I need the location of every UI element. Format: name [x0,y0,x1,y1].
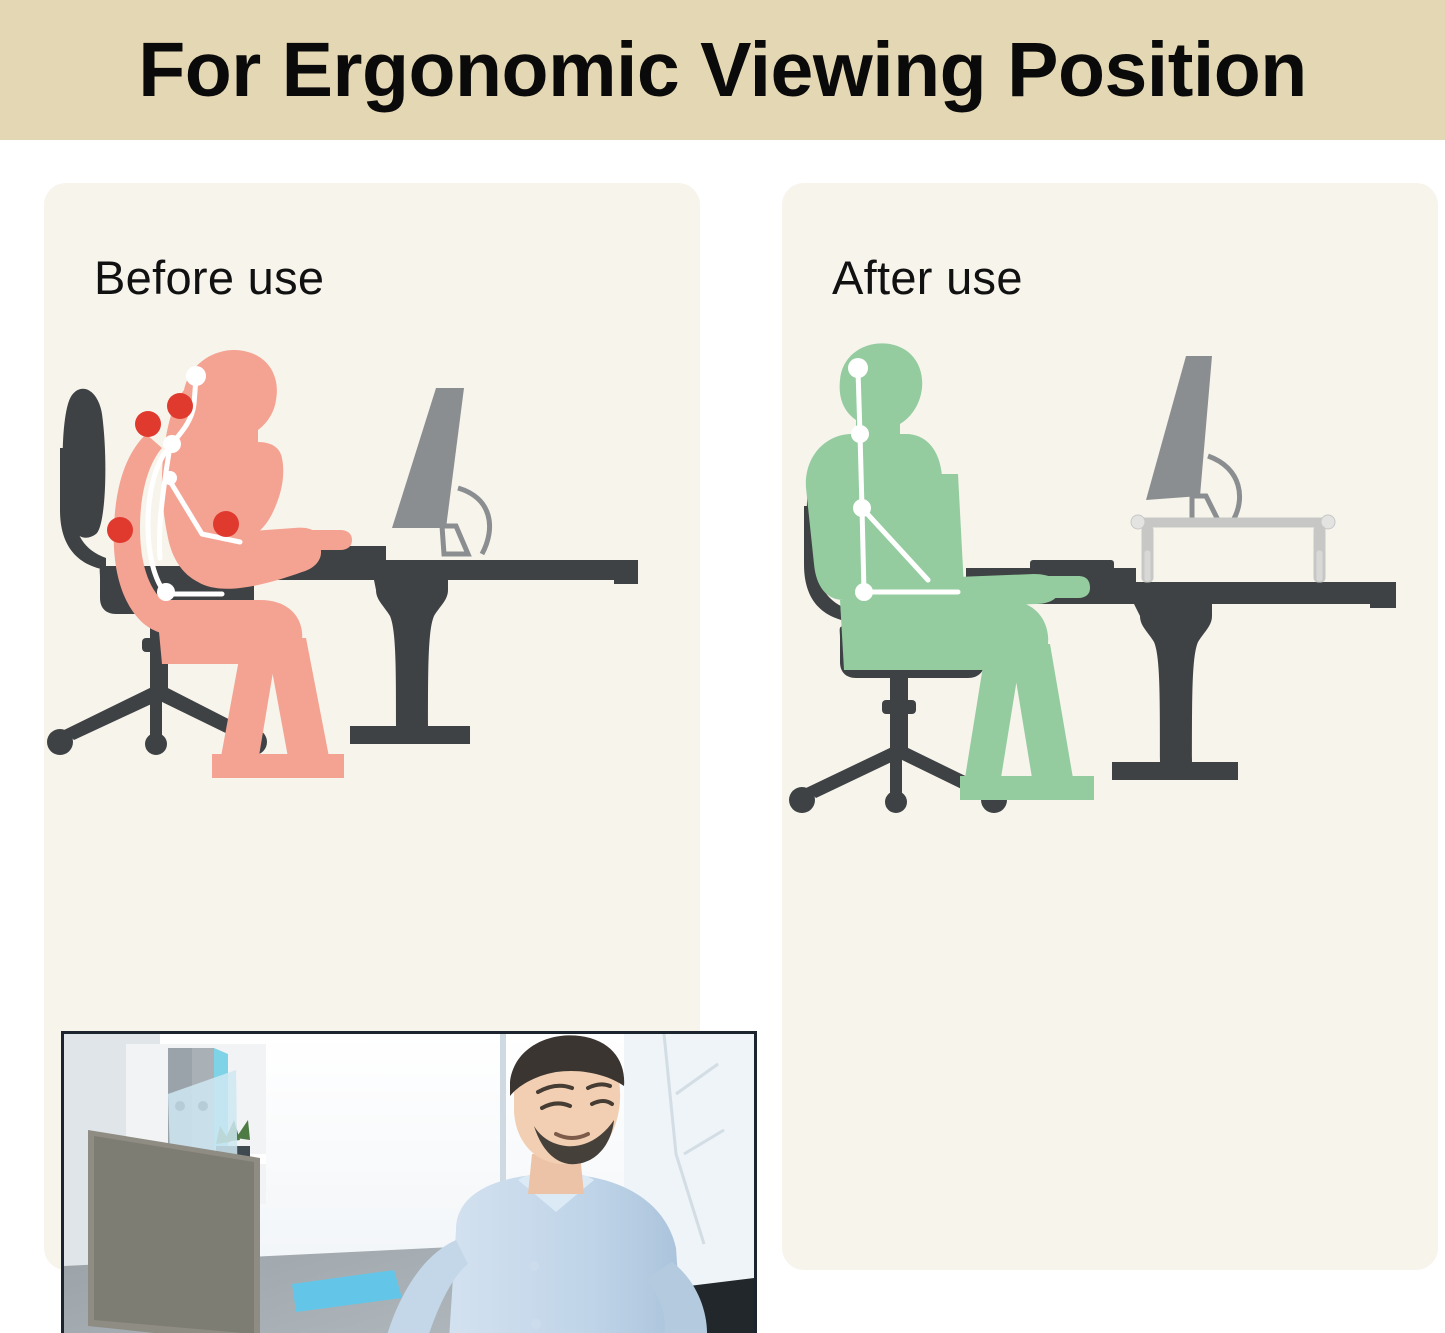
monitor-icon [392,388,490,554]
card-label-before: Before use [94,250,324,305]
monitor-riser-stand [1131,515,1335,582]
comparison-card-after: After use [782,183,1438,1270]
monitor-icon [1146,356,1240,522]
illustration-after-use [782,338,1438,848]
illustration-before-use [44,338,700,848]
page-title: For Ergonomic Viewing Position [138,26,1307,115]
slouched-figure [107,350,352,778]
infographic-page: For Ergonomic Viewing Position Before us… [0,0,1445,1333]
keyboard-icon [1030,560,1114,572]
header-banner: For Ergonomic Viewing Position [0,0,1445,140]
card-label-after: After use [832,250,1023,305]
photo-man-with-back-pain [61,1031,757,1333]
comparison-card-before: Before use [44,183,700,1270]
desk-monitor [88,1130,260,1333]
